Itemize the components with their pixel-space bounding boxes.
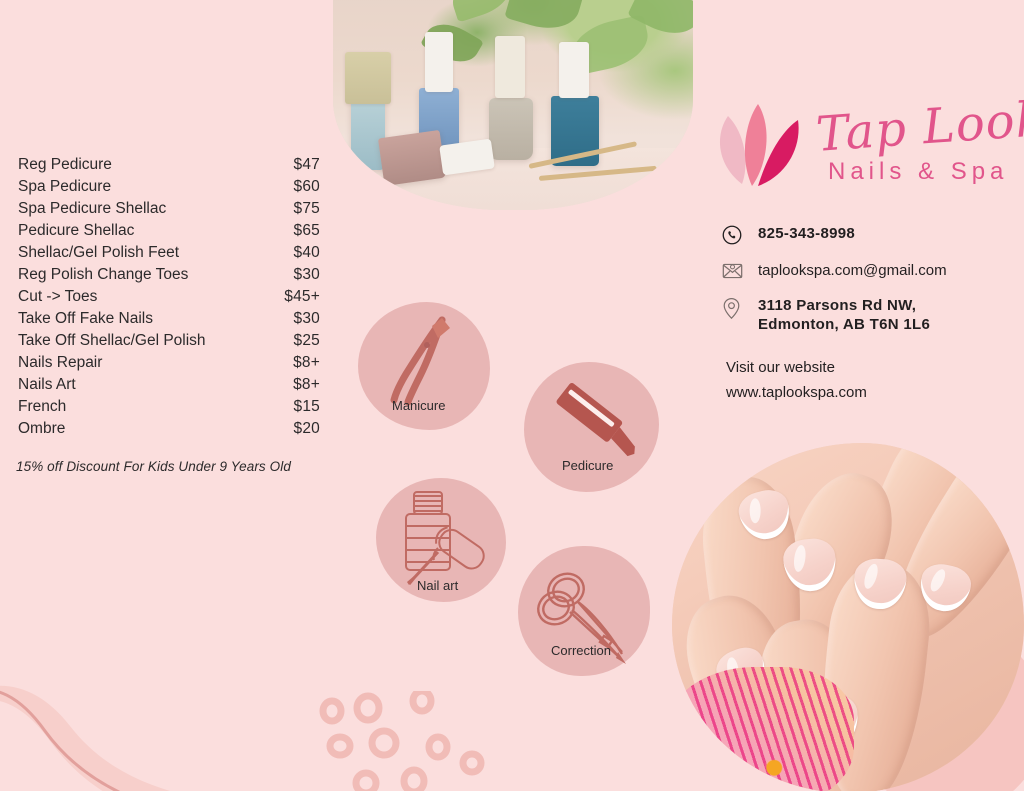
address: 3118 Parsons Rd NW, Edmonton, AB T6N 1L6 bbox=[758, 296, 930, 334]
price-list: Reg Pedicure $47 Spa Pedicure $60 Spa Pe… bbox=[18, 154, 320, 440]
service-name: Take Off Shellac/Gel Polish bbox=[18, 330, 206, 352]
website-prompt: Visit our website bbox=[726, 355, 1016, 380]
service-price: $30 bbox=[294, 308, 320, 330]
address-line-2: Edmonton, AB T6N 1L6 bbox=[758, 316, 930, 333]
service-label-correction: Correction bbox=[551, 643, 611, 658]
brochure-page: Reg Pedicure $47 Spa Pedicure $60 Spa Pe… bbox=[0, 0, 1024, 791]
orchid-flower bbox=[672, 667, 854, 791]
nail-polish-bottles-photo bbox=[333, 0, 693, 210]
service-name: Shellac/Gel Polish Feet bbox=[18, 242, 179, 264]
contact-email-row[interactable]: taplookspa.com@gmail.com bbox=[722, 261, 1022, 280]
phone-icon bbox=[722, 225, 746, 245]
service-name: Nails Repair bbox=[18, 352, 102, 374]
discount-note: 15% off Discount For Kids Under 9 Years … bbox=[16, 459, 291, 474]
service-price: $8+ bbox=[293, 352, 320, 374]
service-name: Take Off Fake Nails bbox=[18, 308, 153, 330]
price-row: Shellac/Gel Polish Feet $40 bbox=[18, 242, 320, 264]
price-row: Ombre $20 bbox=[18, 418, 320, 440]
service-price: $65 bbox=[294, 220, 320, 242]
website-block: Visit our website www.taplookspa.com bbox=[726, 355, 1016, 405]
service-price: $60 bbox=[294, 176, 320, 198]
service-name: Spa Pedicure bbox=[18, 176, 111, 198]
price-row: Spa Pedicure $60 bbox=[18, 176, 320, 198]
service-name: Cut -> Toes bbox=[18, 286, 97, 308]
service-price: $15 bbox=[294, 396, 320, 418]
price-row: Spa Pedicure Shellac $75 bbox=[18, 198, 320, 220]
service-price: $40 bbox=[294, 242, 320, 264]
service-price: $8+ bbox=[293, 374, 320, 396]
french-manicure-hand-photo bbox=[672, 443, 1024, 791]
contact-phone-row[interactable]: 825-343-8998 bbox=[722, 224, 1022, 245]
envelope-icon bbox=[722, 262, 746, 280]
location-pin-icon bbox=[722, 297, 746, 320]
service-label-pedicure: Pedicure bbox=[562, 458, 613, 473]
contact-block: 825-343-8998 taplookspa.com@gmail.com bbox=[722, 224, 1022, 350]
service-price: $20 bbox=[294, 418, 320, 440]
service-label-nail-art: Nail art bbox=[417, 578, 458, 593]
website-url[interactable]: www.taplookspa.com bbox=[726, 380, 1016, 405]
service-name: Reg Pedicure bbox=[18, 154, 112, 176]
logo-script-name: Tap Looks bbox=[814, 89, 1024, 163]
logo-subtitle: Nails & Spa bbox=[828, 158, 1008, 186]
address-line-1: 3118 Parsons Rd NW, bbox=[758, 297, 916, 314]
price-row: Pedicure Shellac $65 bbox=[18, 220, 320, 242]
service-price: $47 bbox=[294, 154, 320, 176]
service-name: Spa Pedicure Shellac bbox=[18, 198, 166, 220]
service-price: $25 bbox=[294, 330, 320, 352]
decorative-wave-shape bbox=[0, 631, 260, 791]
price-row: French $15 bbox=[18, 396, 320, 418]
lotus-petals-icon bbox=[706, 98, 806, 188]
price-row: Nails Repair $8+ bbox=[18, 352, 320, 374]
price-row: Take Off Shellac/Gel Polish $25 bbox=[18, 330, 320, 352]
service-name: Ombre bbox=[18, 418, 65, 440]
price-row: Nails Art $8+ bbox=[18, 374, 320, 396]
email-address: taplookspa.com@gmail.com bbox=[758, 261, 947, 280]
service-name: French bbox=[18, 396, 66, 418]
price-row: Cut -> Toes $45+ bbox=[18, 286, 320, 308]
price-row: Reg Pedicure $47 bbox=[18, 154, 320, 176]
service-price: $30 bbox=[294, 264, 320, 286]
price-row: Take Off Fake Nails $30 bbox=[18, 308, 320, 330]
price-row: Reg Polish Change Toes $30 bbox=[18, 264, 320, 286]
service-name: Pedicure Shellac bbox=[18, 220, 134, 242]
phone-number: 825-343-8998 bbox=[758, 224, 855, 243]
service-name: Nails Art bbox=[18, 374, 76, 396]
service-price: $75 bbox=[294, 198, 320, 220]
service-price: $45+ bbox=[284, 286, 320, 308]
logo: Tap Looks Nails & Spa bbox=[706, 96, 1006, 204]
service-name: Reg Polish Change Toes bbox=[18, 264, 188, 286]
service-label-manicure: Manicure bbox=[392, 398, 445, 413]
decorative-bubbles bbox=[310, 691, 500, 791]
contact-address-row[interactable]: 3118 Parsons Rd NW, Edmonton, AB T6N 1L6 bbox=[722, 296, 1022, 334]
